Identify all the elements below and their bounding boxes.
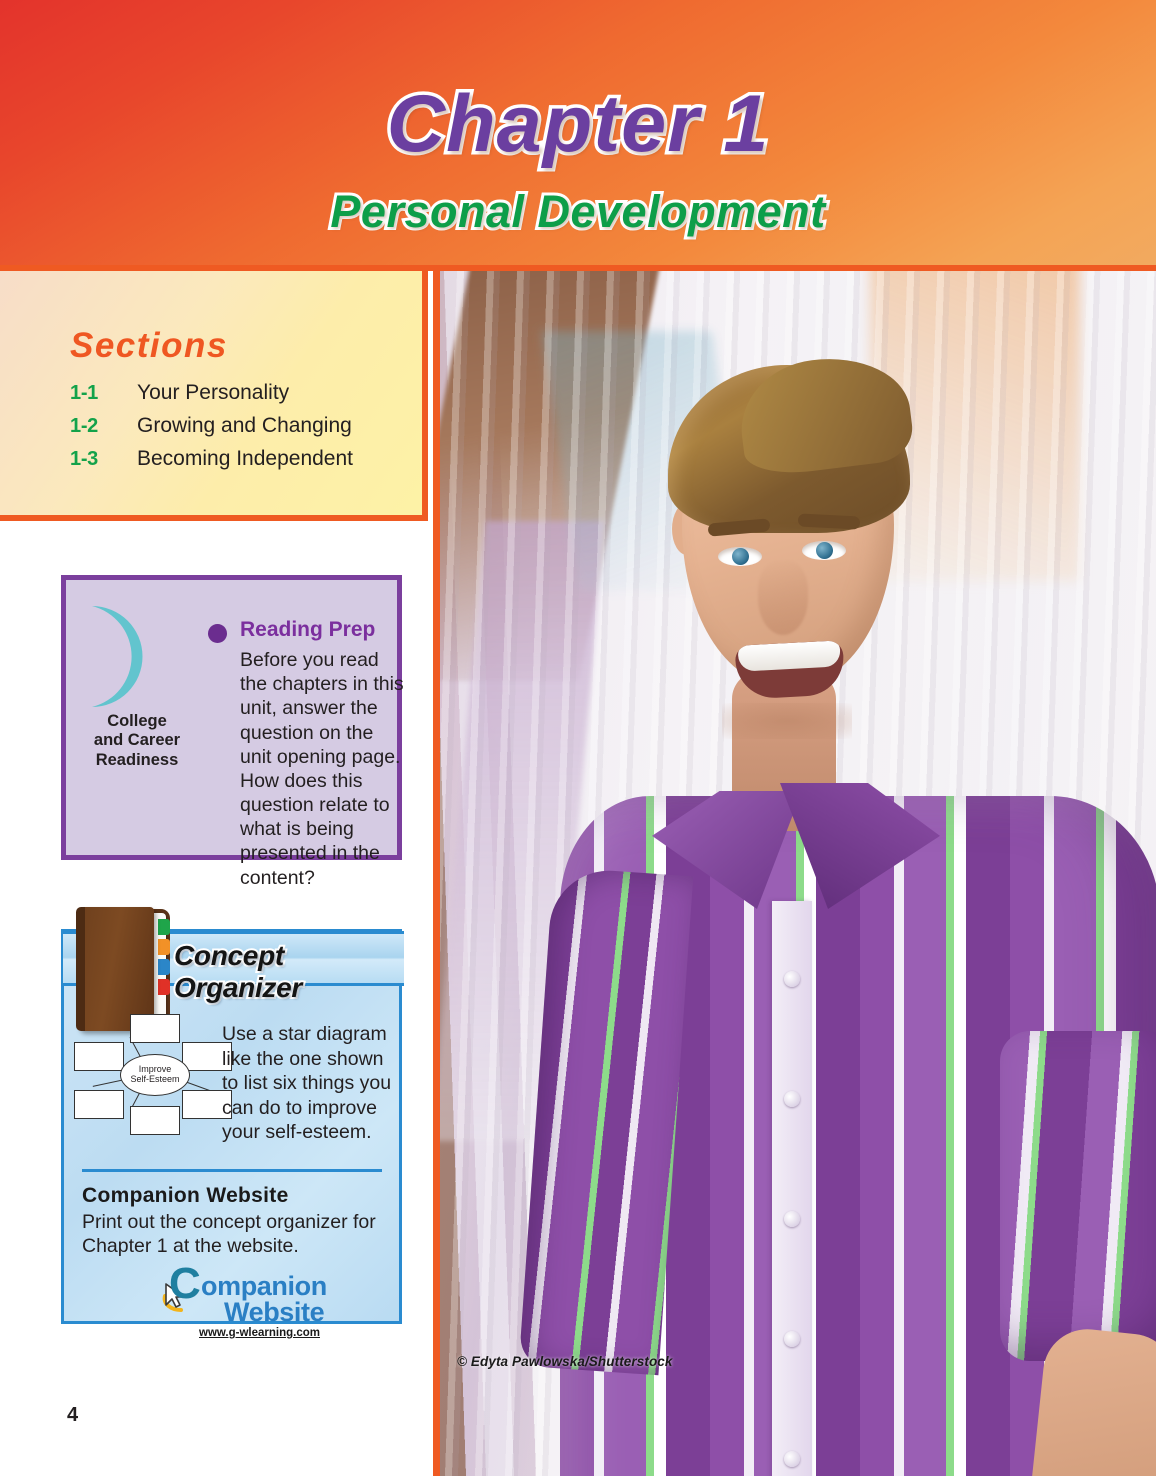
teeth bbox=[738, 640, 841, 671]
ccr-label-line3: Readiness bbox=[72, 751, 202, 770]
ccr-label-line1: College bbox=[72, 712, 202, 731]
concept-organizer-title: Concept Organizer bbox=[174, 940, 399, 1004]
plaid-shirt-sleeve bbox=[1000, 1031, 1156, 1361]
section-number: 1-2 bbox=[70, 415, 137, 438]
list-item[interactable]: 1-2 Growing and Changing bbox=[70, 414, 410, 438]
companion-website-body: Print out the concept organizer for Chap… bbox=[82, 1210, 394, 1258]
bullet-dot-icon bbox=[208, 624, 227, 643]
diagram-node-box bbox=[74, 1042, 124, 1071]
iris-right bbox=[816, 542, 833, 559]
section-label: Becoming Independent bbox=[137, 447, 353, 471]
chin-shadow bbox=[722, 703, 852, 739]
college-career-readiness-label: College and Career Readiness bbox=[72, 712, 202, 770]
section-label: Growing and Changing bbox=[137, 414, 352, 438]
chapter-header-banner: Chapter 1 Personal Development bbox=[0, 0, 1156, 271]
iris-left bbox=[732, 548, 749, 565]
companion-logo-c: C bbox=[169, 1262, 201, 1306]
list-item[interactable]: 1-1 Your Personality bbox=[70, 381, 410, 405]
binder-tab-red bbox=[158, 979, 170, 995]
concept-organizer-box: Concept Organizer Improve Self-Esteem bbox=[61, 929, 402, 1324]
concept-organizer-divider bbox=[82, 1169, 382, 1172]
reading-prep-title: Reading Prep bbox=[240, 618, 375, 642]
section-number: 1-3 bbox=[70, 448, 137, 471]
shirt-button bbox=[784, 1451, 800, 1467]
page-subtitle: Personal Development bbox=[0, 186, 1156, 238]
diagram-node-box bbox=[130, 1014, 180, 1043]
section-number: 1-1 bbox=[70, 382, 137, 405]
shirt-placket bbox=[772, 901, 812, 1476]
page-title: Chapter 1 bbox=[0, 78, 1156, 171]
ccr-label-line2: and Career bbox=[72, 731, 202, 750]
reading-prep-box: College and Career Readiness Reading Pre… bbox=[61, 575, 402, 860]
sections-list: 1-1 Your Personality 1-2 Growing and Cha… bbox=[70, 381, 410, 480]
concept-organizer-body: Use a star diagram like the one shown to… bbox=[222, 1022, 402, 1145]
reading-prep-body: Before you read the chapters in this uni… bbox=[240, 648, 404, 890]
star-diagram: Improve Self-Esteem bbox=[70, 1010, 230, 1135]
college-career-readiness-icon bbox=[78, 594, 196, 719]
diagram-node-box bbox=[74, 1090, 124, 1119]
photo-credit: © Edyta Pawlowska/Shutterstock bbox=[457, 1354, 673, 1369]
companion-logo-word2: Website bbox=[224, 1297, 324, 1328]
diagram-center-line2: Self-Esteem bbox=[130, 1075, 179, 1085]
shirt-button bbox=[784, 1211, 800, 1227]
nose bbox=[758, 561, 808, 635]
list-item[interactable]: 1-3 Becoming Independent bbox=[70, 447, 410, 471]
diagram-center-oval: Improve Self-Esteem bbox=[120, 1054, 190, 1096]
diagram-node-box bbox=[130, 1106, 180, 1135]
chapter-opener-photo: © Edyta Pawlowska/Shutterstock bbox=[433, 271, 1156, 1476]
person-figure bbox=[440, 271, 1156, 1476]
section-label: Your Personality bbox=[137, 381, 289, 405]
binder-tab-blue bbox=[158, 959, 170, 975]
sections-panel: Sections 1-1 Your Personality 1-2 Growin… bbox=[0, 271, 428, 521]
companion-website-title: Companion Website bbox=[82, 1184, 289, 1208]
companion-website-logo[interactable]: C ompanion Website www.g-wlearning.com bbox=[169, 1264, 369, 1324]
shirt-button bbox=[784, 1331, 800, 1347]
binder-tab-orange bbox=[158, 939, 170, 955]
binder-tab-green bbox=[158, 919, 170, 935]
companion-website-url[interactable]: www.g-wlearning.com bbox=[199, 1327, 320, 1339]
sections-heading: Sections bbox=[70, 326, 228, 366]
photo-image: © Edyta Pawlowska/Shutterstock bbox=[440, 271, 1156, 1476]
page-number: 4 bbox=[67, 1404, 78, 1427]
shirt-button bbox=[784, 971, 800, 987]
shirt-button bbox=[784, 1091, 800, 1107]
